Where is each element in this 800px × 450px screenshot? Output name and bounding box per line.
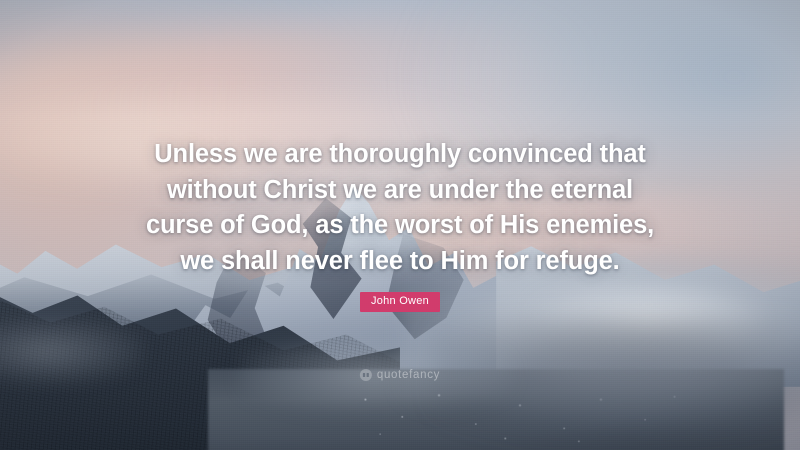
- background-photo: [0, 0, 800, 450]
- quote-card: Unless we are thoroughly convinced that …: [0, 0, 800, 450]
- quotefancy-watermark[interactable]: quotefancy: [360, 369, 440, 381]
- watermark-brand-label: quotefancy: [377, 369, 440, 381]
- photo-vignette: [0, 0, 800, 450]
- quote-mark-icon: [360, 369, 372, 381]
- author-badge[interactable]: John Owen: [360, 292, 440, 312]
